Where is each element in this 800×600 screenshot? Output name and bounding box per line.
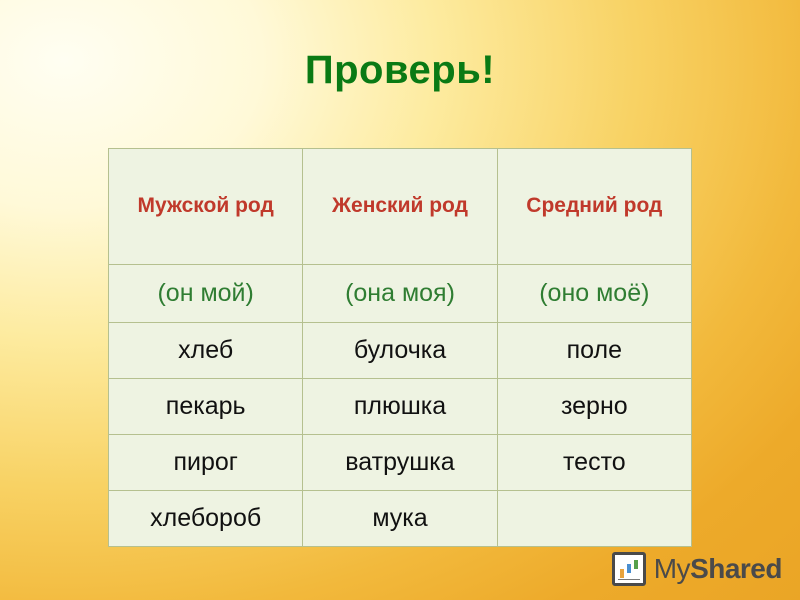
cell-text: мука <box>303 504 496 533</box>
watermark-prefix: My <box>654 553 690 584</box>
cell-text: тесто <box>498 448 691 477</box>
cell-text: пирог <box>109 448 302 477</box>
table-header-feminine: Женский род <box>303 149 497 265</box>
table-cell: булочка <box>303 323 497 379</box>
cell-text: хлебороб <box>109 504 302 533</box>
table-header-neuter: Средний род <box>497 149 691 265</box>
table-cell: пекарь <box>109 379 303 435</box>
table-cell: (она моя) <box>303 265 497 323</box>
cell-text: ватрушка <box>303 448 496 477</box>
table-header-masculine: Мужской род <box>109 149 303 265</box>
table-row: пирог ватрушка тесто <box>109 435 692 491</box>
cell-text: (он мой) <box>109 279 302 308</box>
table-cell: мука <box>303 491 497 547</box>
cell-text: поле <box>498 336 691 365</box>
slide-canvas: Проверь! Мужской род Женский род Средний… <box>0 0 800 600</box>
cell-text: зерно <box>498 392 691 421</box>
gender-table: Мужской род Женский род Средний род (он … <box>108 148 692 547</box>
watermark-suffix: Shared <box>690 553 782 584</box>
cell-text: пекарь <box>109 392 302 421</box>
cell-text: булочка <box>303 336 496 365</box>
watermark: MyShared <box>612 552 782 586</box>
table-header-feminine-label: Женский род <box>303 193 496 219</box>
cell-text: хлеб <box>109 336 302 365</box>
cell-text: (оно моё) <box>498 279 691 308</box>
table-header-masculine-label: Мужской род <box>109 193 302 219</box>
table-cell: ватрушка <box>303 435 497 491</box>
gender-table-wrapper: Мужской род Женский род Средний род (он … <box>108 148 692 547</box>
presentation-chart-icon <box>612 552 646 586</box>
table-cell: хлеб <box>109 323 303 379</box>
cell-text: (она моя) <box>303 279 496 308</box>
table-cell: хлебороб <box>109 491 303 547</box>
table-header-neuter-label: Средний род <box>498 193 691 219</box>
cell-text: плюшка <box>303 392 496 421</box>
page-title: Проверь! <box>0 48 800 93</box>
table-header-row: Мужской род Женский род Средний род <box>109 149 692 265</box>
table-cell: поле <box>497 323 691 379</box>
table-cell-empty <box>497 491 691 547</box>
table-cell: пирог <box>109 435 303 491</box>
table-cell: зерно <box>497 379 691 435</box>
table-row: пекарь плюшка зерно <box>109 379 692 435</box>
table-cell: плюшка <box>303 379 497 435</box>
watermark-label: MyShared <box>654 553 782 585</box>
table-row: (он мой) (она моя) (оно моё) <box>109 265 692 323</box>
table-row: хлебороб мука <box>109 491 692 547</box>
table-row: хлеб булочка поле <box>109 323 692 379</box>
table-cell: тесто <box>497 435 691 491</box>
table-cell: (он мой) <box>109 265 303 323</box>
table-cell: (оно моё) <box>497 265 691 323</box>
